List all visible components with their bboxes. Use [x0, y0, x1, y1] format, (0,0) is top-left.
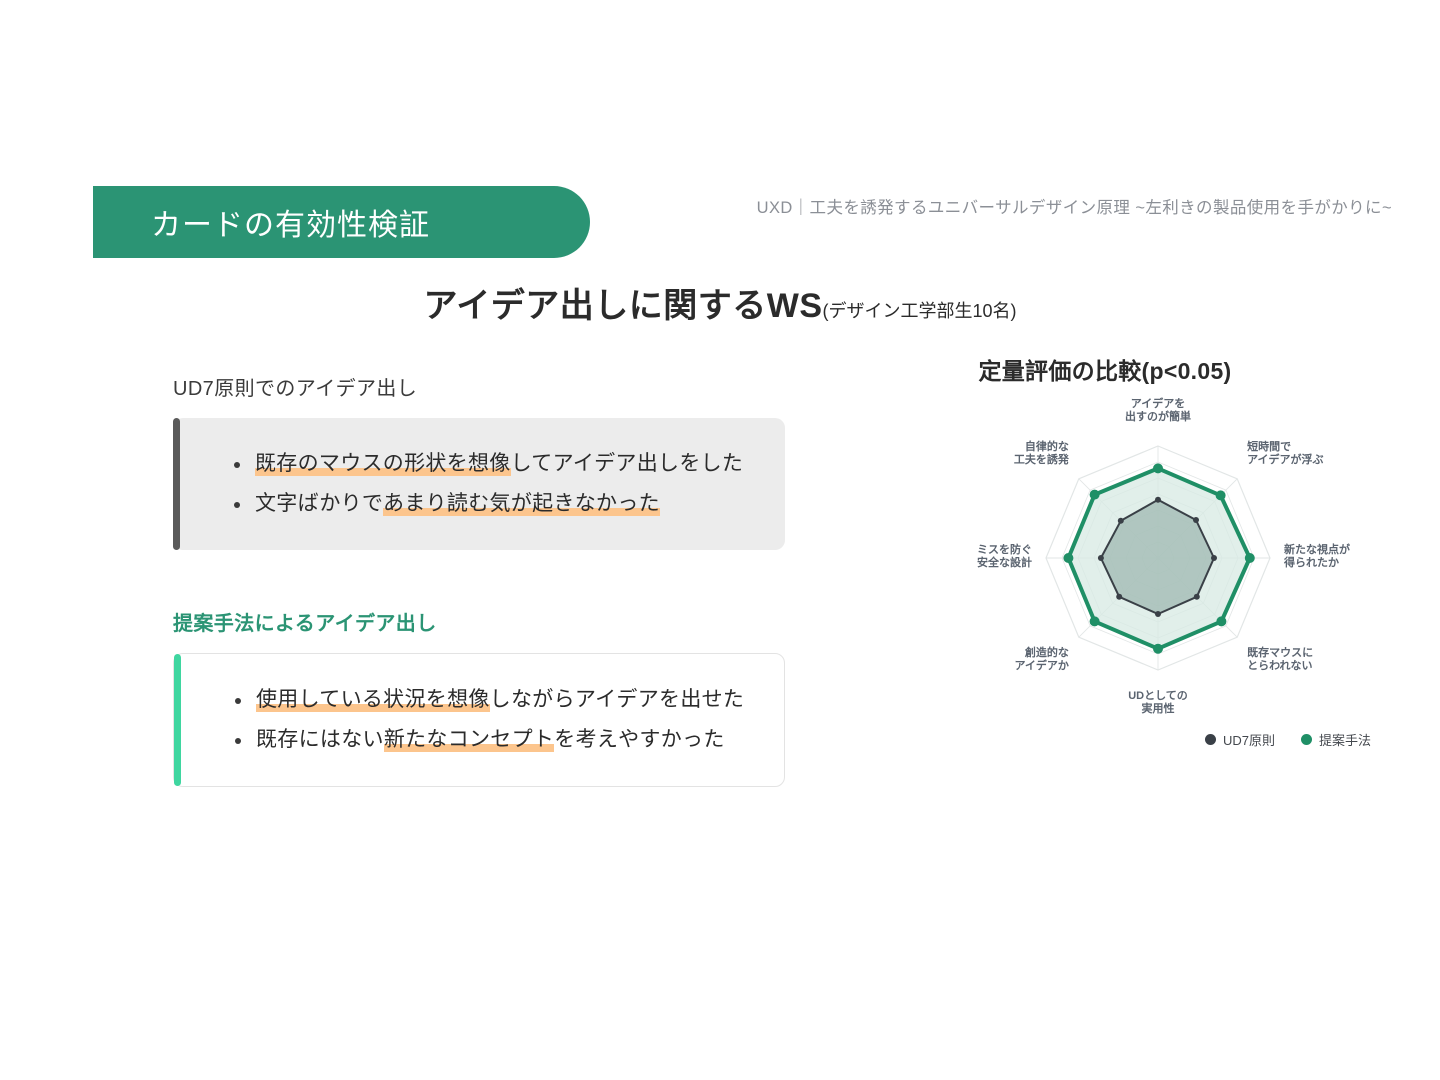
radar-data-point [1211, 555, 1217, 561]
bullet-highlight: 使用している状況を想像 [256, 688, 490, 712]
list-item: 使用している状況を想像しながらアイデアを出せた [232, 680, 764, 720]
proposed-bullet-list: 使用している状況を想像しながらアイデアを出せた 既存にはない新たなコンセプトを考… [232, 680, 764, 760]
bullet-plain: 文字ばかりで [255, 492, 383, 515]
card-accent-bar [173, 418, 180, 550]
radar-data-point [1193, 517, 1199, 523]
section-two-label: 提案手法によるアイデア出し [173, 607, 788, 636]
bullet-rest: しながらアイデアを出せた [490, 688, 745, 711]
bullet-rest: を考えやすかった [554, 728, 724, 751]
list-item: 既存にはない新たなコンセプトを考えやすかった [232, 720, 764, 760]
bullet-rest: してアイデア出しをした [511, 452, 744, 475]
left-content-column: UD7原則でのアイデア出し 既存のマウスの形状を想像してアイデア出しをした 文字… [173, 372, 788, 787]
radar-axis-label: アイデアを出すのが簡単 [1125, 396, 1191, 423]
radar-data-point [1090, 616, 1100, 626]
radar-data-point [1098, 555, 1104, 561]
radar-data-point [1063, 553, 1073, 563]
card-accent-bar [174, 654, 181, 786]
legend-dot-icon [1301, 734, 1312, 745]
bullet-plain: 既存にはない [256, 728, 384, 751]
proposed-method-findings-card: 使用している状況を想像しながらアイデアを出せた 既存にはない新たなコンセプトを考… [173, 653, 785, 787]
radar-axis-label: 短時間でアイデアが浮ぶ [1247, 439, 1323, 466]
radar-axis-label: 自律的な工夫を誘発 [1014, 439, 1070, 466]
legend-dot-icon [1205, 734, 1216, 745]
radar-axis-label: 新たな視点が得られたか [1283, 542, 1350, 569]
main-heading: アイデア出しに関するWS(デザイン工学部生10名) [0, 278, 1440, 327]
radar-data-point [1153, 644, 1163, 654]
radar-chart: アイデアを出すのが簡単短時間でアイデアが浮ぶ新たな視点が得られたか既存マウスにと… [905, 380, 1415, 740]
radar-axis-label: UDとしての実用性 [1128, 689, 1188, 715]
bullet-highlight: 既存のマウスの形状を想像 [255, 452, 511, 476]
radar-axis-label: 創造的なアイデアか [1014, 645, 1068, 672]
radar-data-point [1116, 594, 1122, 600]
main-heading-annotation: (デザイン工学部生10名) [823, 301, 1017, 321]
legend-item-proposed: 提案手法 [1301, 730, 1371, 749]
list-item: 文字ばかりであまり読む気が起きなかった [231, 484, 765, 524]
radar-data-point [1216, 616, 1226, 626]
section-one-label: UD7原則でのアイデア出し [173, 372, 788, 401]
radar-data-point [1155, 611, 1161, 617]
slide-header: カードの有効性検証 UXD｜工夫を誘発するユニバーサルデザイン原理 ~左利きの製… [0, 186, 1440, 258]
radar-data-point [1153, 463, 1163, 473]
radar-axis-label: ミスを防ぐ安全な設計 [977, 542, 1032, 569]
radar-chart-panel: 定量評価の比較(p<0.05) アイデアを出すのが簡単短時間でアイデアが浮ぶ新た… [905, 352, 1415, 762]
ud7-findings-card: 既存のマウスの形状を想像してアイデア出しをした 文字ばかりであまり読む気が起きな… [173, 418, 785, 550]
radar-data-point [1118, 518, 1124, 524]
radar-data-point [1194, 594, 1200, 600]
slide-title-text: カードの有効性検証 [151, 200, 430, 244]
ud7-bullet-list: 既存のマウスの形状を想像してアイデア出しをした 文字ばかりであまり読む気が起きな… [231, 444, 765, 524]
slide-title-pill: カードの有効性検証 [93, 186, 590, 258]
bullet-highlight: 新たなコンセプト [384, 728, 554, 752]
main-heading-text: アイデア出しに関するWS [423, 287, 822, 325]
radar-data-point [1245, 553, 1255, 563]
legend-label: 提案手法 [1319, 730, 1371, 749]
chart-legend: UD7原則 提案手法 [1205, 730, 1371, 749]
legend-label: UD7原則 [1223, 730, 1275, 749]
radar-data-point [1090, 490, 1100, 500]
header-subtitle: UXD｜工夫を誘発するユニバーサルデザイン原理 ~左利きの製品使用を手がかりに~ [757, 194, 1392, 218]
radar-data-point [1216, 490, 1226, 500]
list-item: 既存のマウスの形状を想像してアイデア出しをした [231, 444, 765, 484]
legend-item-ud7: UD7原則 [1205, 730, 1275, 749]
radar-axis-label: 既存マウスにとらわれない [1247, 645, 1313, 672]
bullet-highlight: あまり読む気が起きなかった [383, 492, 660, 516]
radar-data-point [1155, 497, 1161, 503]
section-spacer [173, 550, 788, 607]
